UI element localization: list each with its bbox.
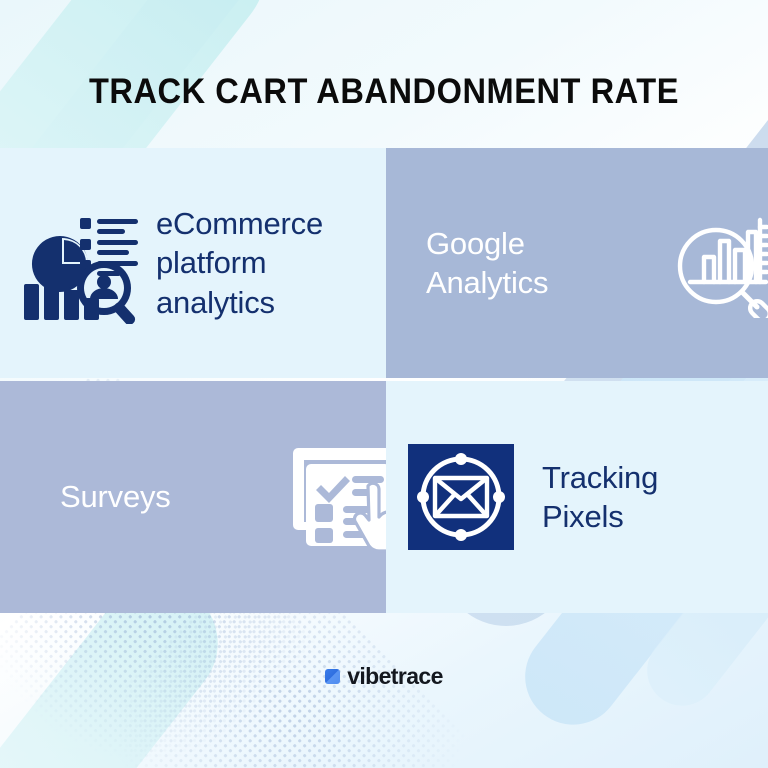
grid-cell-tracking-pixels[interactable]: Tracking Pixels bbox=[386, 381, 768, 613]
method-grid: eCommerce platform analytics Google Anal… bbox=[0, 148, 768, 618]
analytics-dashboard-icon bbox=[18, 202, 140, 324]
cell-label-surveys: Surveys bbox=[60, 477, 290, 516]
grid-cell-surveys[interactable]: Surveys bbox=[0, 381, 444, 613]
cell-label-ecommerce-platform-analytics: eCommerce platform analytics bbox=[156, 204, 323, 321]
grid-cell-ecommerce-platform-analytics[interactable]: eCommerce platform analytics bbox=[0, 148, 402, 378]
cell-label-google-analytics: Google Analytics bbox=[426, 224, 660, 302]
vibetrace-logo-text: vibetrace bbox=[347, 663, 443, 690]
vibetrace-logo-mark-icon bbox=[325, 669, 340, 684]
magnifier-bar-chart-icon bbox=[660, 208, 768, 318]
footer-logo: vibetrace bbox=[0, 663, 768, 690]
infographic-canvas: TRACK CART ABANDONMENT RATE bbox=[0, 0, 768, 768]
page-title: TRACK CART ABANDONMENT RATE bbox=[27, 72, 741, 112]
cell-label-tracking-pixels: Tracking Pixels bbox=[542, 458, 658, 536]
grid-cell-google-analytics[interactable]: Google Analytics bbox=[386, 148, 768, 378]
tracking-pixel-envelope-icon bbox=[408, 444, 514, 550]
